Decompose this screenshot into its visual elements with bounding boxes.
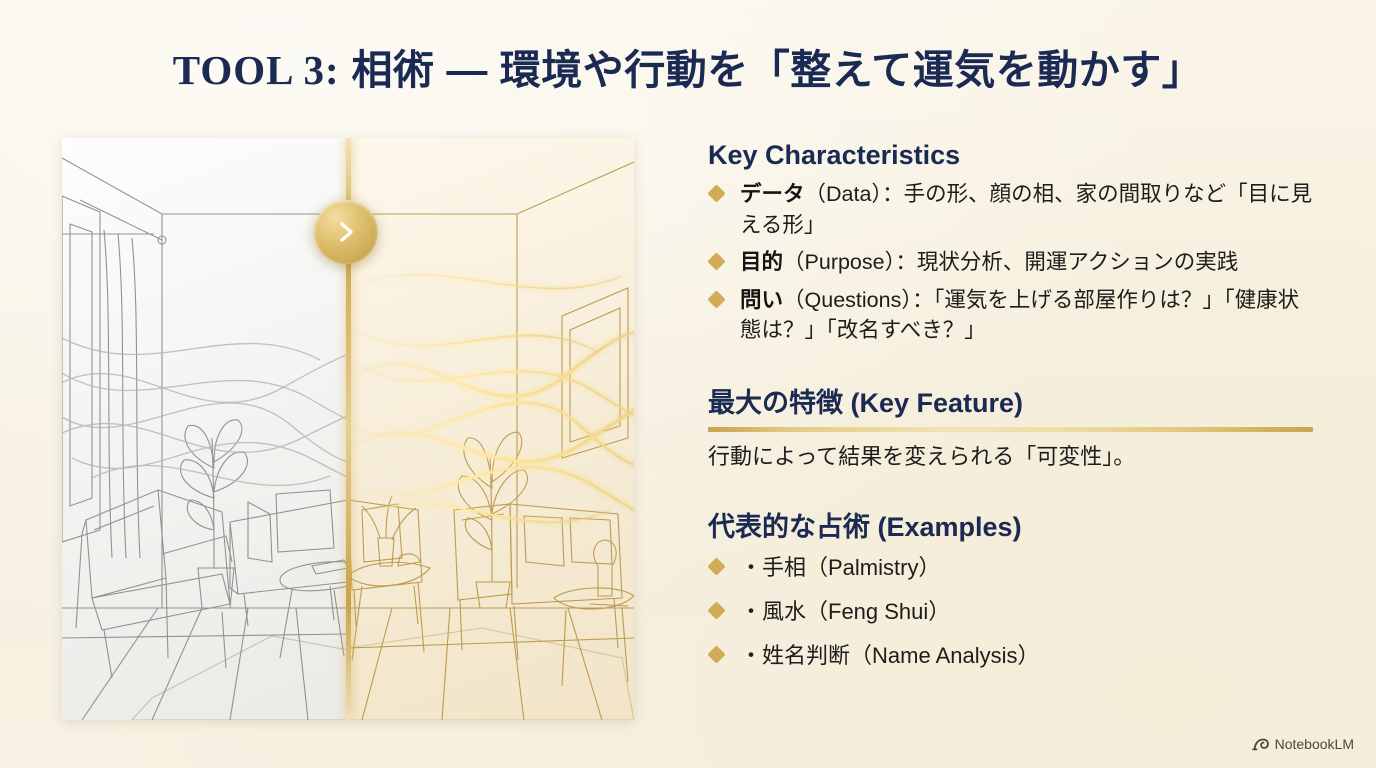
- key-characteristics-list: データ（Data）：手の形、顔の相、家の間取りなど「目に見える形」 目的（Pur…: [708, 179, 1320, 346]
- diamond-bullet-icon: [707, 601, 725, 619]
- list-item: ・手相（Palmistry）: [708, 552, 1320, 583]
- list-item-text: ・風水（Feng Shui）: [740, 599, 950, 624]
- key-feature-heading: 最大の特徴 (Key Feature): [708, 388, 1320, 419]
- notebooklm-label: NotebookLM: [1275, 736, 1354, 752]
- examples-list: ・手相（Palmistry） ・風水（Feng Shui） ・姓名判断（Name…: [708, 552, 1320, 672]
- list-item-text: ・姓名判断（Name Analysis）: [740, 643, 1040, 668]
- list-item: 問い（Questions）：「運気を上げる部屋作りは？」「健康状態は？」「改名す…: [708, 285, 1320, 346]
- gold-divider: [708, 427, 1313, 432]
- diamond-bullet-icon: [707, 290, 725, 308]
- list-item-label: データ: [740, 182, 805, 206]
- page-title-tool-label: TOOL 3:: [173, 47, 340, 93]
- page-title: TOOL 3: 相術 ― 環境や行動を「整えて運気を動かす」: [0, 36, 1376, 96]
- diamond-bullet-icon: [707, 557, 725, 575]
- list-item-label: 目的: [740, 250, 783, 274]
- notebooklm-watermark: NotebookLM: [1252, 736, 1354, 752]
- diamond-bullet-icon: [707, 184, 725, 202]
- list-item-label: 問い: [740, 288, 783, 312]
- section-examples: 代表的な占術 (Examples) ・手相（Palmistry） ・風水（Fen…: [708, 512, 1320, 671]
- list-item: データ（Data）：手の形、顔の相、家の間取りなど「目に見える形」: [708, 179, 1320, 240]
- list-item: ・風水（Feng Shui）: [708, 596, 1320, 627]
- illustration-panel: [62, 138, 634, 720]
- content-column: Key Characteristics データ（Data）：手の形、顔の相、家の…: [708, 140, 1320, 684]
- list-item-text: （Data）：手の形、顔の相、家の間取りなど「目に見える形」: [740, 182, 1312, 237]
- diamond-bullet-icon: [707, 252, 725, 270]
- list-item: 目的（Purpose）：現状分析、開運アクションの実践: [708, 247, 1320, 278]
- examples-heading: 代表的な占術 (Examples): [708, 512, 1320, 543]
- key-characteristics-heading: Key Characteristics: [708, 140, 1320, 171]
- list-item-text: ・手相（Palmistry）: [740, 555, 940, 580]
- diamond-bullet-icon: [707, 645, 725, 663]
- chevron-right-icon: [314, 200, 378, 264]
- list-item-text: （Purpose）：現状分析、開運アクションの実践: [783, 250, 1238, 274]
- list-item-text: （Questions）：「運気を上げる部屋作りは？」「健康状態は？」「改名すべき…: [740, 288, 1299, 343]
- list-item: ・姓名判断（Name Analysis）: [708, 640, 1320, 671]
- section-key-feature: 最大の特徴 (Key Feature) 行動によって結果を変えられる「可変性」。: [708, 388, 1320, 473]
- key-feature-body: 行動によって結果を変えられる「可変性」。: [708, 442, 1320, 473]
- notebooklm-icon: [1252, 737, 1269, 752]
- page-title-rest: 相術 ― 環境や行動を「整えて運気を動かす」: [340, 47, 1204, 93]
- section-key-characteristics: Key Characteristics データ（Data）：手の形、顔の相、家の…: [708, 140, 1320, 346]
